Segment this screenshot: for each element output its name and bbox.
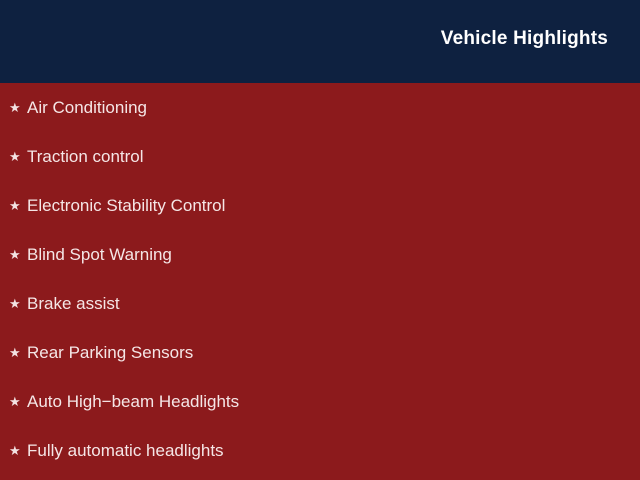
list-item-label: Brake assist [27,294,120,314]
star-icon: ★ [9,101,27,114]
star-icon: ★ [9,395,27,408]
list-item-label: Fully automatic headlights [27,441,224,461]
header-bar: Vehicle Highlights [0,0,640,83]
list-item-label: Traction control [27,147,144,167]
list-item-label: Rear Parking Sensors [27,343,193,363]
list-item-label: Electronic Stability Control [27,196,225,216]
star-icon: ★ [9,199,27,212]
list-item: ★ Electronic Stability Control [0,181,640,230]
list-item: ★ Brake assist [0,279,640,328]
page-title: Vehicle Highlights [441,28,608,50]
list-item: ★ Fully automatic headlights [0,426,640,475]
list-item: ★ Traction control [0,132,640,181]
list-item: ★ Rear Parking Sensors [0,328,640,377]
vehicle-highlights-screen: Vehicle Highlights ★ Air Conditioning ★ … [0,0,640,480]
list-item: ★ Blind Spot Warning [0,230,640,279]
star-icon: ★ [9,150,27,163]
star-icon: ★ [9,346,27,359]
vehicle-highlights-list: ★ Air Conditioning ★ Traction control ★ … [0,83,640,475]
list-item: ★ Auto High−beam Headlights [0,377,640,426]
star-icon: ★ [9,248,27,261]
highlights-panel: ★ Air Conditioning ★ Traction control ★ … [0,83,640,480]
star-icon: ★ [9,297,27,310]
list-item-label: Auto High−beam Headlights [27,392,239,412]
list-item-label: Blind Spot Warning [27,245,172,265]
list-item-label: Air Conditioning [27,98,147,118]
list-item: ★ Air Conditioning [0,83,640,132]
star-icon: ★ [9,444,27,457]
